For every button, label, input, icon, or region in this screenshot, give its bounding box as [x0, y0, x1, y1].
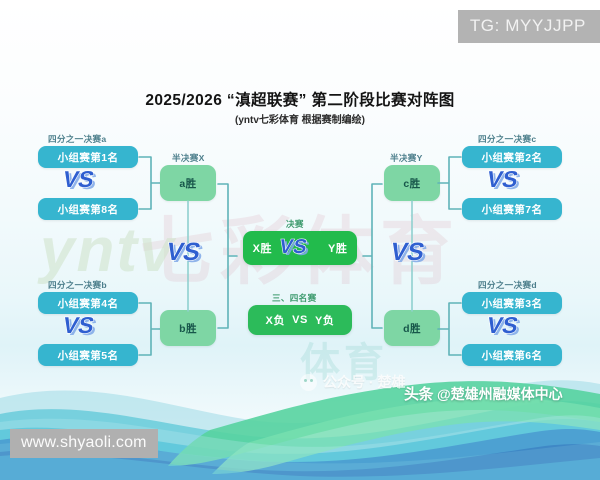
- team-qf-d-top[interactable]: 小组赛第3名: [462, 292, 562, 314]
- label-quarterfinal-d: 四分之一决赛d: [478, 279, 537, 291]
- label-semifinal-y: 半决赛Y: [390, 152, 423, 164]
- vs-icon-semifinal-x: VS VS: [164, 237, 220, 269]
- vs-icon-qf-c: VS VS: [485, 166, 539, 196]
- final-right-team: Y胜: [328, 240, 347, 256]
- toutiao-brand-label: 头条: [404, 383, 433, 404]
- label-quarterfinal-a: 四分之一决赛a: [48, 133, 106, 145]
- team-qf-b-top[interactable]: 小组赛第4名: [38, 292, 138, 314]
- svg-text:VS: VS: [388, 238, 427, 266]
- label-quarterfinal-b: 四分之一决赛b: [48, 279, 107, 291]
- third-right-team: Y负: [315, 312, 335, 328]
- third-place-match-box[interactable]: X负 VS Y负: [248, 305, 352, 335]
- semifinal-y-winner-d[interactable]: d胜: [384, 310, 440, 346]
- svg-text:VS: VS: [61, 312, 97, 338]
- vs-icon-qf-b: VS VS: [61, 312, 115, 342]
- team-qf-b-bottom[interactable]: 小组赛第5名: [38, 344, 138, 366]
- team-qf-c-bottom[interactable]: 小组赛第7名: [462, 198, 562, 220]
- team-qf-a-bottom[interactable]: 小组赛第8名: [38, 198, 138, 220]
- third-left-team: X负: [266, 312, 286, 328]
- label-semifinal-x: 半决赛X: [172, 152, 205, 164]
- url-tag-overlay: www.shyaoli.com: [10, 429, 158, 458]
- final-left-team: X胜: [253, 240, 272, 256]
- team-qf-d-bottom[interactable]: 小组赛第6名: [462, 344, 562, 366]
- semifinal-x-winner-b[interactable]: b胜: [160, 310, 216, 346]
- tg-tag-overlay: TG: MYYJJPP: [458, 10, 600, 43]
- watermark-wechat: 公众号 · 楚雄: [300, 372, 405, 392]
- svg-text:VS: VS: [61, 166, 97, 192]
- page-subtitle: (yntv七彩体育 根据赛制编绘): [0, 111, 600, 126]
- third-vs-label: VS: [292, 314, 308, 326]
- watermark-wechat-text: 公众号 · 楚雄: [323, 372, 405, 392]
- label-third-place: 三、四名赛: [272, 292, 316, 304]
- vs-icon-semifinal-y: VS VS: [388, 237, 444, 269]
- label-final: 决赛: [286, 218, 304, 230]
- semifinal-x-winner-a[interactable]: a胜: [160, 165, 216, 201]
- svg-text:VS: VS: [278, 236, 309, 258]
- vs-icon-final: VS VS: [278, 235, 322, 261]
- vs-icon-qf-a: VS VS: [61, 166, 115, 196]
- svg-text:VS: VS: [485, 166, 521, 192]
- svg-text:VS: VS: [164, 238, 203, 266]
- team-qf-a-top[interactable]: 小组赛第1名: [38, 146, 138, 168]
- bracket-screenshot: 七彩体育 yntv 体育 2025/2026 “滇超联赛” 第二阶段比赛对阵图 …: [0, 0, 600, 480]
- vs-icon-qf-d: VS VS: [485, 312, 539, 342]
- page-title: 2025/2026 “滇超联赛” 第二阶段比赛对阵图: [0, 88, 600, 110]
- final-match-box[interactable]: X胜 VS VS Y胜: [243, 231, 357, 265]
- watermark-toutiao: 头条 @楚雄州融媒体中心: [404, 383, 563, 404]
- toutiao-account-name: @楚雄州融媒体中心: [437, 384, 563, 404]
- semifinal-y-winner-c[interactable]: c胜: [384, 165, 440, 201]
- label-quarterfinal-c: 四分之一决赛c: [478, 133, 536, 145]
- wechat-icon: [300, 374, 317, 391]
- svg-text:VS: VS: [485, 312, 521, 338]
- team-qf-c-top[interactable]: 小组赛第2名: [462, 146, 562, 168]
